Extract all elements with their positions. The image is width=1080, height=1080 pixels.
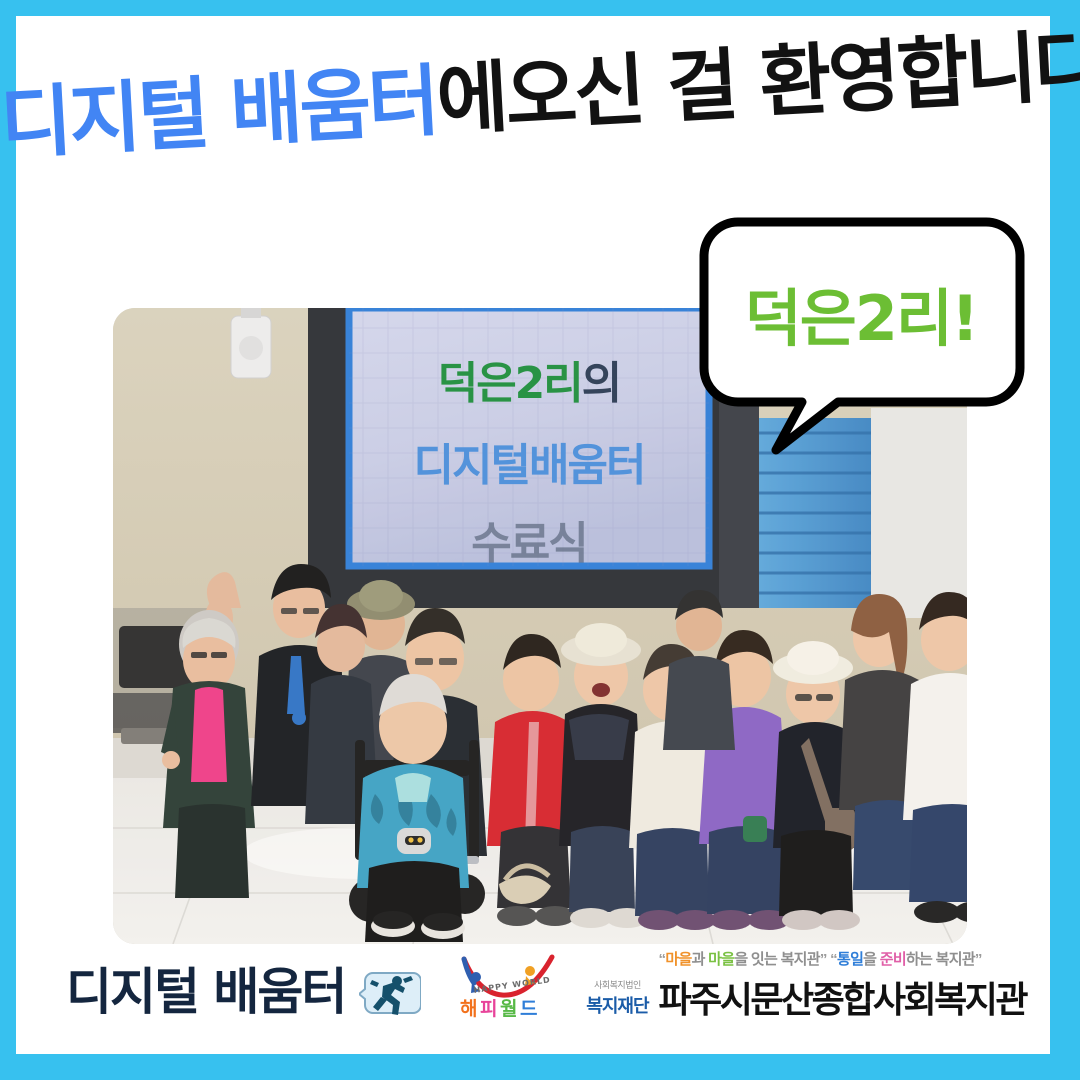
svg-text:피: 피 (480, 998, 497, 1020)
organization-name: 파주시문산종합사회복지관 (659, 971, 1026, 1023)
footer: 디지털 배움터 HAPPY WORLD 해 피 (16, 944, 1050, 1054)
frame-border-right (1050, 0, 1080, 1080)
foundation-name: 복지재단 (586, 992, 648, 1018)
speech-bubble: 덕은2리! (700, 206, 1030, 456)
svg-text:드: 드 (520, 998, 537, 1020)
organization-lockup: HAPPY WORLD 해 피 월 드 사회복지법인 복지재단 “마을과 마을을… (456, 946, 1026, 1024)
speech-bubble-text: 덕은2리! (700, 268, 1022, 358)
brand-label: 디지털 배움터 (66, 952, 345, 1024)
happy-world-logo: HAPPY WORLD 해 피 월 드 (456, 949, 576, 1021)
svg-text:월: 월 (500, 998, 517, 1020)
organization-text: “마을과 마을을 잇는 복지관” “통일을 준비하는 복지관” 파주시문산종합사… (659, 949, 1026, 1021)
brand-lockup: 디지털 배움터 (66, 952, 421, 1024)
foundation-type: 사회복지법인 (594, 978, 641, 991)
page-title: 디지털 배움터에오신 걸 환영합니다! (0, 27, 1080, 167)
page-title-highlight: 디지털 배움터 (0, 57, 439, 170)
poster-canvas: 디지털 배움터에오신 걸 환영합니다! (0, 0, 1080, 1080)
running-person-icon (359, 959, 421, 1017)
frame-border-bottom (0, 1054, 1080, 1080)
frame-border-top (0, 0, 1080, 16)
page-title-rest: 에오신 걸 환영합니다! (434, 19, 1080, 147)
foundation-lockup: 사회복지법인 복지재단 (586, 946, 648, 1024)
svg-text:해: 해 (460, 998, 477, 1020)
organization-tagline: “마을과 마을을 잇는 복지관” “통일을 준비하는 복지관” (659, 948, 1026, 969)
